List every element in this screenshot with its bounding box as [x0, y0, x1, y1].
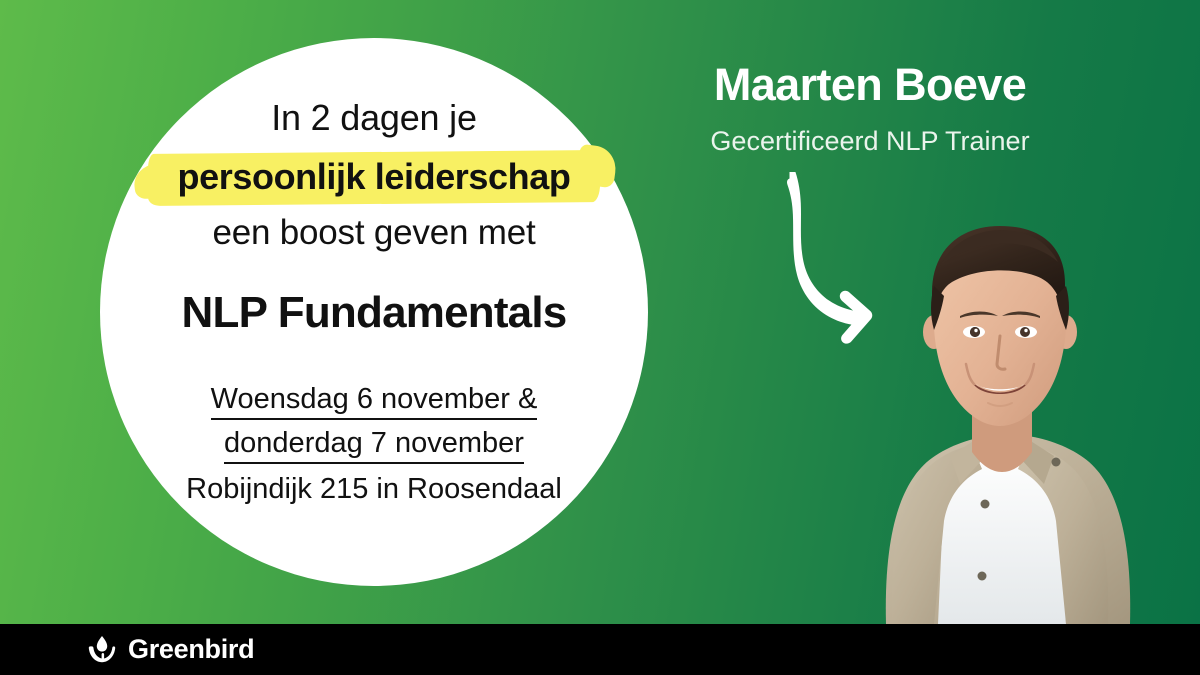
promo-line-1: In 2 dagen je [100, 96, 648, 140]
event-date-line-2-text: donderdag 7 november [224, 427, 524, 464]
promo-line-3: een boost geven met [100, 211, 648, 255]
trainer-role: Gecertificeerd NLP Trainer [660, 124, 1080, 158]
event-date-line-1-text: Woensdag 6 november & [211, 383, 538, 420]
trainer-photo [800, 204, 1200, 624]
trainer-name: Maarten Boeve [660, 57, 1080, 113]
footer-bar: Greenbird [0, 624, 1200, 675]
promo-line-2-text: persoonlijk leiderschap [100, 154, 648, 200]
event-location: Robijndijk 215 in Roosendaal [100, 470, 648, 508]
promo-banner: In 2 dagen je persoonlijk leiderschap ee… [0, 0, 1200, 675]
course-title: NLP Fundamentals [100, 286, 648, 340]
event-date-line-2: donderdag 7 november [100, 424, 648, 462]
greenbird-flame-icon [86, 634, 118, 666]
event-date-line-1: Woensdag 6 november & [100, 380, 648, 418]
promo-line-2-highlighted: persoonlijk leiderschap [100, 146, 648, 208]
brand-name: Greenbird [128, 634, 254, 665]
